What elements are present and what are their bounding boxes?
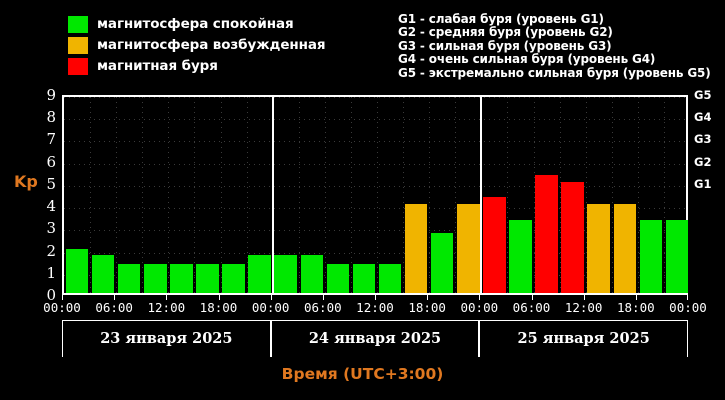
x-axis-tick-label: 06:00 [505, 301, 559, 315]
day-label-cell: 23 января 2025 [62, 320, 271, 356]
x-axis-tick-label: 00:00 [661, 301, 715, 315]
day-label-row: 23 января 202524 января 202525 января 20… [62, 320, 688, 356]
day-label: 24 января 2025 [271, 330, 480, 347]
x-axis-tick-labels: 00:0006:0012:0018:0000:0006:0012:0018:00… [0, 301, 725, 317]
vertical-gridline [90, 97, 91, 293]
y-axis-tick-label: 6 [42, 155, 56, 170]
kp-bar [248, 255, 270, 293]
kp-bar [274, 255, 296, 293]
x-axis-title: Время (UTC+3:00) [0, 365, 725, 383]
g-level-label: G2 [694, 157, 711, 169]
kp-bar [66, 249, 88, 293]
x-axis-tick-label: 00:00 [452, 301, 506, 315]
legend-item-label: магнитосфера спокойная [97, 16, 294, 33]
y-axis-title: Kp [14, 172, 38, 191]
legend-item: магнитосфера возбужденная [68, 35, 368, 55]
kp-bar [170, 264, 192, 293]
kp-bar [222, 264, 244, 293]
kp-bar [640, 220, 662, 293]
g-level-label: G1 [694, 179, 711, 191]
x-axis-tick-label: 12:00 [348, 301, 402, 315]
x-axis-tick-label: 00:00 [35, 301, 89, 315]
legend-item: магнитосфера спокойная [68, 14, 368, 34]
x-axis-tick-label: 18:00 [609, 301, 663, 315]
kp-bar [92, 255, 114, 293]
horizontal-gridline [64, 164, 686, 165]
red-square-icon [68, 58, 88, 75]
vertical-gridline [142, 97, 143, 293]
vertical-gridline [168, 97, 169, 293]
horizontal-gridline [64, 141, 686, 142]
day-separator-line [480, 97, 482, 293]
y-axis-tick-label: 7 [42, 132, 56, 147]
kp-bar [587, 204, 609, 293]
storm-level-key: G1 - слабая буря (уровень G1)G2 - средня… [398, 13, 711, 80]
x-axis-tick-label: 06:00 [296, 301, 350, 315]
g-level-label: G3 [694, 134, 711, 146]
amber-square-icon [68, 37, 88, 54]
y-axis-tick-label: 3 [42, 221, 56, 236]
vertical-gridline [116, 97, 117, 293]
vertical-gridline [194, 97, 195, 293]
kp-index-chart [62, 95, 688, 295]
y-axis-tick-label: 1 [42, 266, 56, 281]
storm-level-line: G1 - слабая буря (уровень G1) [398, 13, 711, 26]
legend: магнитосфера спокойнаямагнитосфера возбу… [68, 14, 368, 77]
legend-item: магнитная буря [68, 56, 368, 76]
x-axis-tick-label: 12:00 [139, 301, 193, 315]
storm-level-line: G2 - средняя буря (уровень G2) [398, 26, 711, 39]
y-axis-tick-label: 4 [42, 199, 56, 214]
kp-bar [144, 264, 166, 293]
storm-level-line: G5 - экстремально сильная буря (уровень … [398, 67, 711, 80]
day-label-cell: 24 января 2025 [271, 320, 480, 356]
kp-bar [457, 204, 479, 293]
y-axis-tick-label: 5 [42, 177, 56, 192]
plot-area [64, 97, 686, 293]
storm-level-line: G3 - сильная буря (уровень G3) [398, 40, 711, 53]
day-separator-line [272, 97, 274, 293]
legend-item-label: магнитосфера возбужденная [97, 37, 325, 54]
green-square-icon [68, 16, 88, 33]
kp-bar [483, 197, 505, 293]
x-axis-tick-label: 18:00 [192, 301, 246, 315]
legend-item-label: магнитная буря [97, 58, 218, 75]
kp-bar [405, 204, 427, 293]
x-axis-tick-label: 18:00 [400, 301, 454, 315]
kp-bar [561, 182, 583, 293]
horizontal-gridline [64, 97, 686, 98]
day-label: 23 января 2025 [62, 330, 271, 347]
g-level-label: G4 [694, 112, 711, 124]
vertical-gridline [403, 97, 404, 293]
x-axis-tick-label: 12:00 [557, 301, 611, 315]
x-axis-tick-label: 00:00 [244, 301, 298, 315]
day-label: 25 января 2025 [479, 330, 688, 347]
kp-bar [535, 175, 557, 293]
kp-bar [666, 220, 688, 293]
kp-bar [431, 233, 453, 293]
kp-bar [327, 264, 349, 293]
vertical-gridline [455, 97, 456, 293]
vertical-gridline [507, 97, 508, 293]
kp-bar [379, 264, 401, 293]
vertical-gridline [429, 97, 430, 293]
y-axis-tick-label: 9 [42, 88, 56, 103]
day-label-cell: 25 января 2025 [479, 320, 688, 356]
g-level-label: G5 [694, 90, 711, 102]
kp-bar [614, 204, 636, 293]
horizontal-gridline [64, 186, 686, 187]
x-axis-tick-label: 06:00 [87, 301, 141, 315]
y-axis-tick-label: 8 [42, 110, 56, 125]
kp-bar [118, 264, 140, 293]
kp-bar [353, 264, 375, 293]
storm-level-line: G4 - очень сильная буря (уровень G4) [398, 53, 711, 66]
kp-bar [301, 255, 323, 293]
kp-bar [196, 264, 218, 293]
horizontal-gridline [64, 119, 686, 120]
kp-bar [509, 220, 531, 293]
y-axis-tick-labels: 0123456789 [38, 95, 56, 295]
g-scale-labels: G1G2G3G4G5 [694, 95, 724, 295]
y-axis-tick-label: 2 [42, 244, 56, 259]
